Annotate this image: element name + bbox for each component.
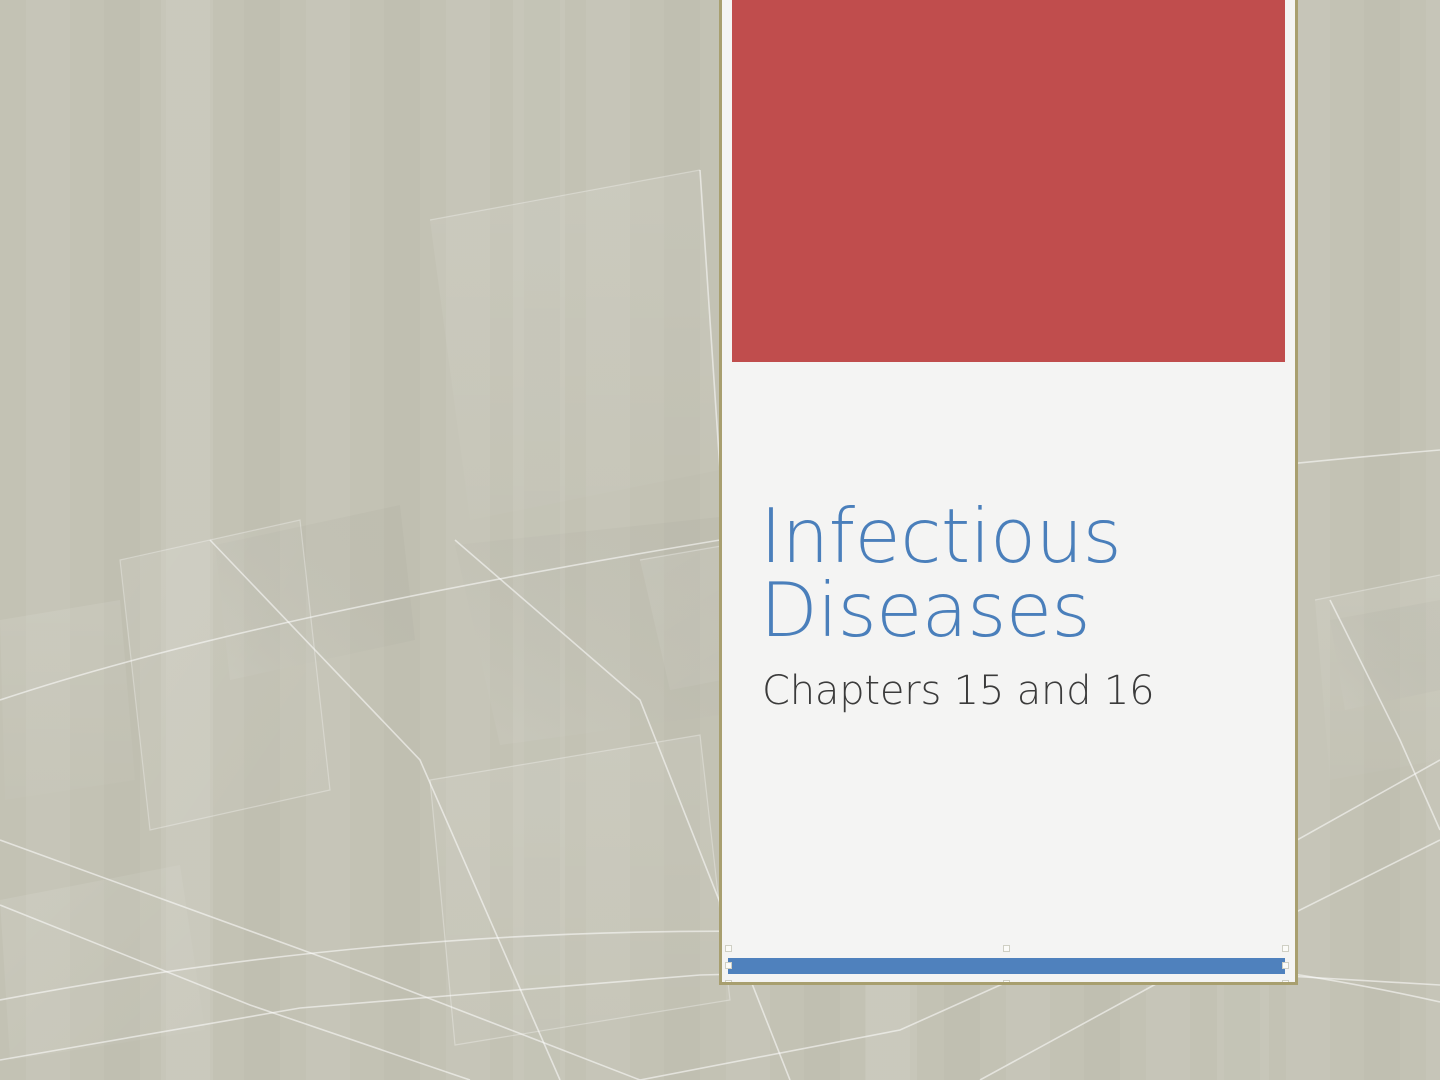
red-banner-block bbox=[732, 0, 1285, 362]
slide-content-panel: Infectious Diseases Chapters 15 and 16 bbox=[719, 0, 1298, 985]
selection-handle-bottom-left[interactable] bbox=[725, 980, 732, 985]
title-block: Infectious Diseases Chapters 15 and 16 bbox=[760, 500, 1260, 713]
selection-handle-middle-right[interactable] bbox=[1282, 962, 1289, 969]
selection-handle-middle-left[interactable] bbox=[725, 962, 732, 969]
selection-handle-top-middle[interactable] bbox=[1003, 945, 1010, 952]
selection-handle-top-right[interactable] bbox=[1282, 945, 1289, 952]
presentation-slide: Infectious Diseases Chapters 15 and 16 bbox=[0, 0, 1440, 1080]
selection-handle-bottom-middle[interactable] bbox=[1003, 980, 1010, 985]
page-title: Infectious Diseases bbox=[760, 500, 1260, 647]
blue-divider-bar[interactable] bbox=[728, 958, 1285, 974]
selection-handle-top-left[interactable] bbox=[725, 945, 732, 952]
slide-subtitle: Chapters 15 and 16 bbox=[762, 669, 1260, 713]
selection-handle-bottom-right[interactable] bbox=[1282, 980, 1289, 985]
